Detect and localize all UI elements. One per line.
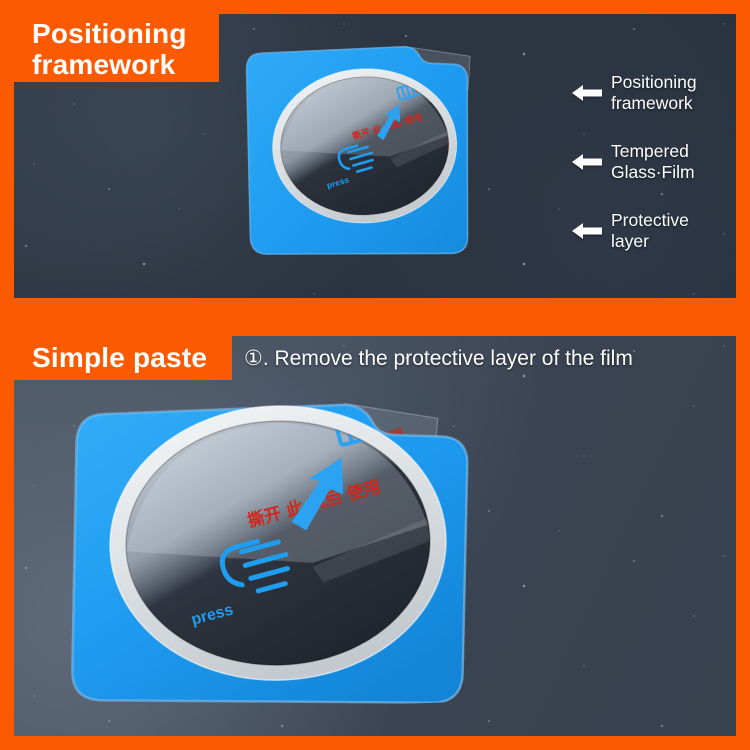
heading-line-2: framework (32, 49, 175, 80)
arrow-left-icon (572, 221, 602, 241)
panel-bottom-heading: Simple paste (14, 336, 232, 380)
callout-positioning-framework: Positioning framework (572, 72, 697, 114)
arrow-left-icon (572, 152, 602, 172)
device-illustration: 撕膜 (44, 370, 515, 716)
product-instruction-graphic: 撕膜 (0, 0, 750, 750)
callout-label: Tempered Glass·Film (611, 141, 695, 183)
device-tempered-glass-assembly-top: 撕膜 (234, 30, 491, 275)
panel-top-heading: Positioning framework (14, 14, 219, 82)
callout-tempered-glass-film: Tempered Glass·Film (572, 141, 695, 183)
arrow-left-icon (572, 83, 602, 103)
callout-protective-layer: Protective layer (572, 210, 689, 252)
callout-label: Positioning framework (611, 72, 697, 114)
heading-line-1: Positioning (32, 18, 187, 49)
device-illustration: 撕膜 (234, 30, 491, 275)
heading-simple-paste: Simple paste (32, 342, 207, 374)
step-instruction-1: ①. Remove the protective layer of the fi… (244, 336, 633, 380)
panel-simple-paste: 撕膜 (14, 336, 736, 736)
device-tempered-glass-assembly-bottom: 撕膜 (44, 370, 515, 716)
panel-positioning-framework: 撕膜 (14, 14, 736, 298)
callout-label: Protective layer (611, 210, 689, 252)
